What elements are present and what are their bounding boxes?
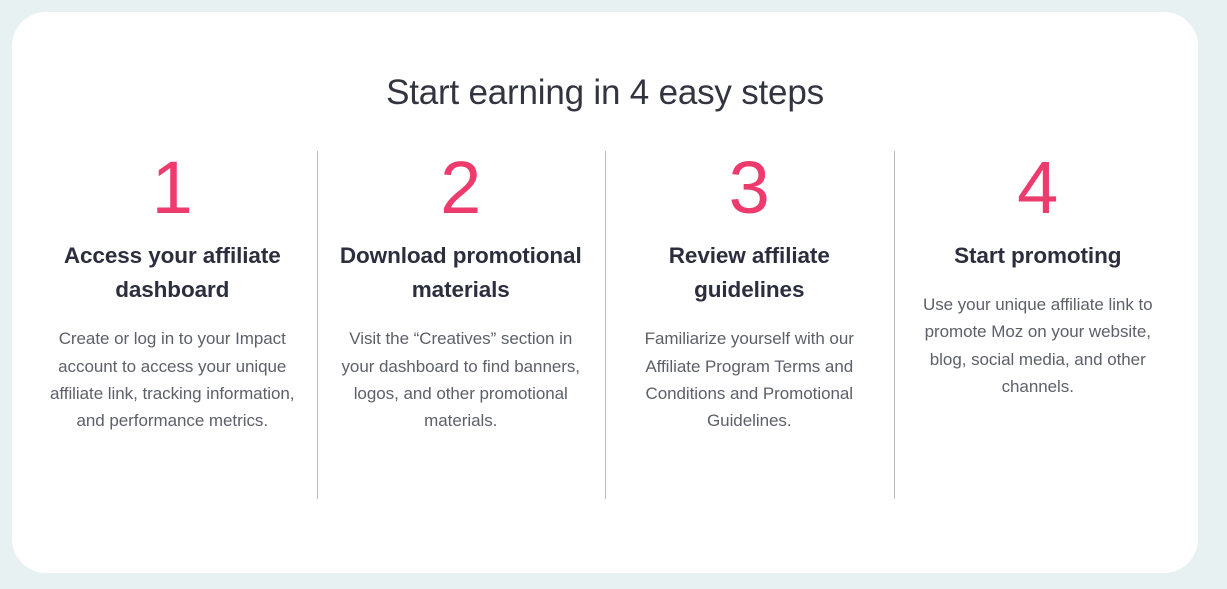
step-number-2: 2 xyxy=(339,151,584,225)
step-item-4: 4 Start promoting Use your unique affili… xyxy=(894,151,1183,499)
step-number-4: 4 xyxy=(916,151,1161,225)
step-number-1: 1 xyxy=(50,151,295,225)
step-item-1: 1 Access your affiliate dashboard Create… xyxy=(28,151,317,499)
page-title: Start earning in 4 easy steps xyxy=(12,72,1198,114)
step-heading-2: Download promotional materials xyxy=(339,239,584,307)
step-body-4: Use your unique affiliate link to promot… xyxy=(916,291,1161,400)
step-body-3: Familiarize yourself with our Affiliate … xyxy=(627,325,872,434)
step-heading-4: Start promoting xyxy=(916,239,1161,273)
step-body-1: Create or log in to your Impact account … xyxy=(50,325,295,434)
page-root: Start earning in 4 easy steps 1 Access y… xyxy=(0,0,1227,589)
steps-list: 1 Access your affiliate dashboard Create… xyxy=(12,151,1198,499)
step-number-3: 3 xyxy=(627,151,872,225)
step-item-2: 2 Download promotional materials Visit t… xyxy=(317,151,606,499)
step-item-3: 3 Review affiliate guidelines Familiariz… xyxy=(605,151,894,499)
steps-card: Start earning in 4 easy steps 1 Access y… xyxy=(12,12,1198,573)
step-body-2: Visit the “Creatives” section in your da… xyxy=(339,325,584,434)
step-heading-3: Review affiliate guidelines xyxy=(627,239,872,307)
step-heading-1: Access your affiliate dashboard xyxy=(50,239,295,307)
